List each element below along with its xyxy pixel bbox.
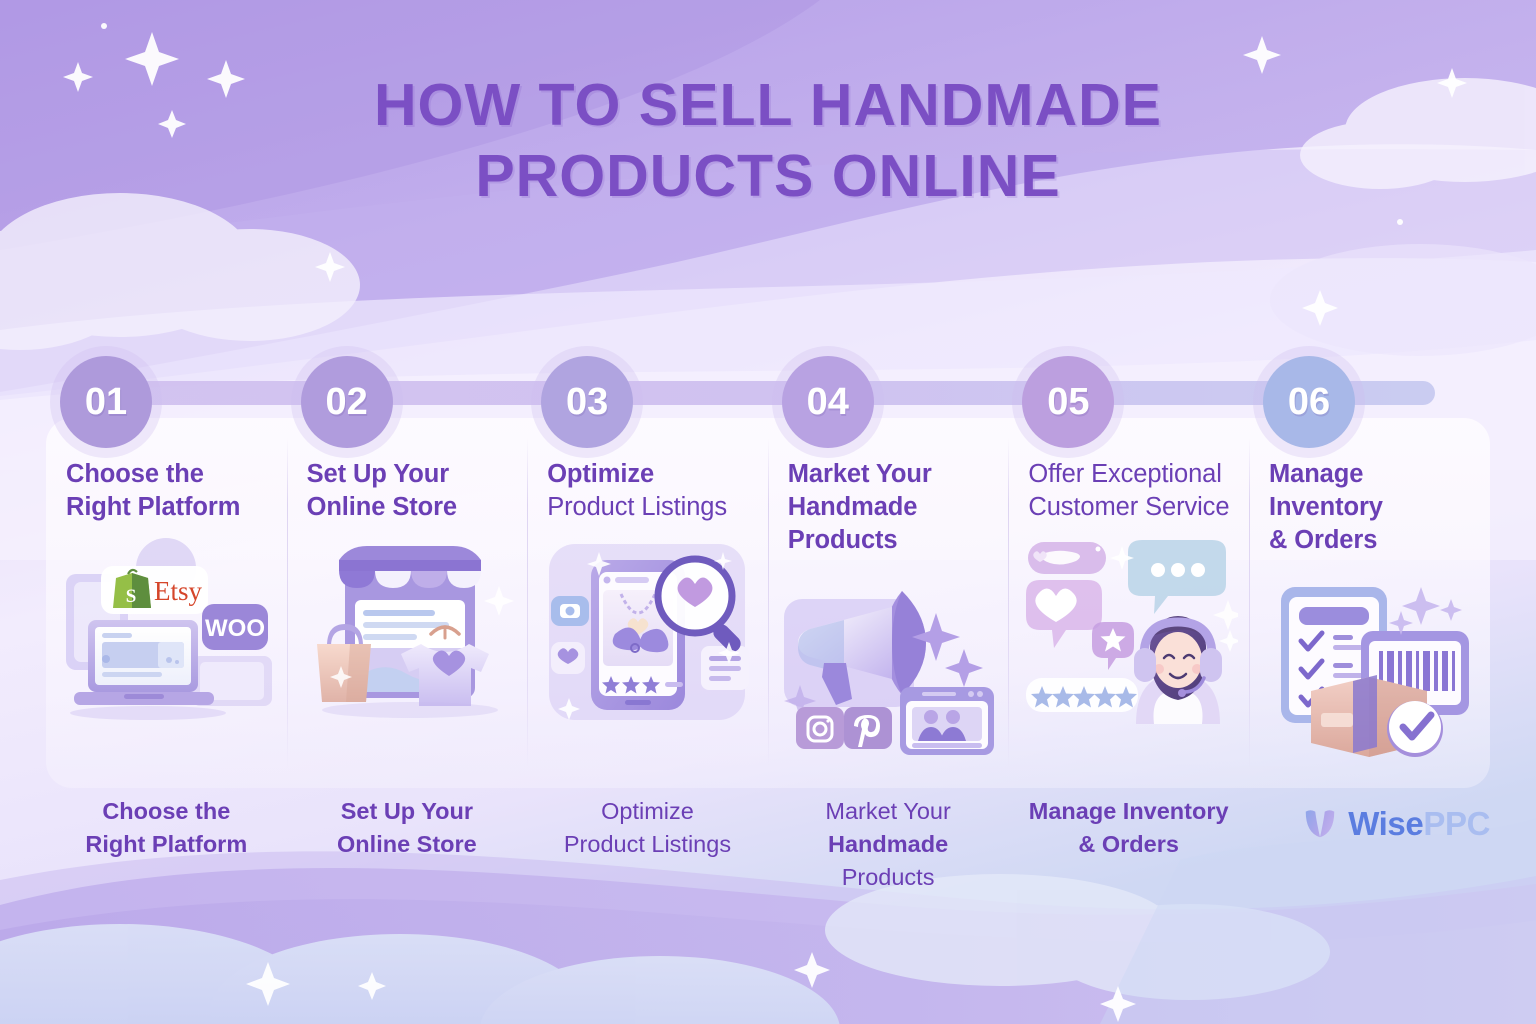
caption-row: Choose the Right Platform Set Up Your On… xyxy=(46,795,1490,935)
heart-icon xyxy=(551,642,585,674)
step-title-04-line1: Market Your xyxy=(788,460,932,488)
caption-05-line2: & Orders xyxy=(1078,831,1179,857)
step-number-06: 06 xyxy=(1288,381,1330,424)
support-agent-illustration xyxy=(1024,538,1238,724)
step-card-02[interactable]: 02 Set Up Your Online Store xyxy=(287,418,528,788)
title-line-1: HOW TO SELL HANDMADE xyxy=(0,70,1536,141)
caption-03-line2: Product Listings xyxy=(564,831,731,857)
step-number-03: 03 xyxy=(566,381,608,424)
storefront-illustration xyxy=(303,538,517,724)
steps-list: 01 Choose the Right Platform xyxy=(46,418,1490,788)
tulip-petal-mark-icon xyxy=(1301,805,1339,843)
step-title-04-line2: Handmade xyxy=(788,493,918,521)
etsy-wordmark: Etsy xyxy=(154,576,203,606)
caption-02: Set Up Your Online Store xyxy=(287,795,528,935)
inventory-orders-illustration xyxy=(1265,571,1479,757)
infographic-canvas: HOW TO SELL HANDMADE PRODUCTS ONLINE 01 … xyxy=(0,0,1536,1024)
step-badge-03: 03 xyxy=(541,356,633,448)
step-title-06-line3: & Orders xyxy=(1269,526,1377,554)
step-badge-04: 04 xyxy=(782,356,874,448)
step-card-06[interactable]: 06 Manage Inventory & Orders xyxy=(1249,418,1490,788)
step-title-03: Optimize Product Listings xyxy=(547,458,727,524)
wiseppc-logo[interactable]: WisePPC xyxy=(1301,805,1490,843)
step-badge-02: 02 xyxy=(301,356,393,448)
step-card-03[interactable]: 03 Optimize Product Listings xyxy=(527,418,768,788)
step-title-04: Market Your Handmade Products xyxy=(788,458,932,557)
step-title-04-line3: Products xyxy=(788,526,898,554)
laptop-marketplaces-illustration: S Etsy WOO xyxy=(62,538,276,724)
step-title-05-line2: Customer Service xyxy=(1028,493,1229,521)
woo-badge: WOO xyxy=(202,604,268,650)
caption-04-line3: Products xyxy=(842,864,935,890)
step-number-01: 01 xyxy=(85,381,127,424)
page-title: HOW TO SELL HANDMADE PRODUCTS ONLINE xyxy=(0,70,1536,212)
svg-text:WOO: WOO xyxy=(205,615,265,642)
step-card-04[interactable]: 04 Market Your Handmade Products xyxy=(768,418,1009,788)
caption-03: Optimize Product Listings xyxy=(527,795,768,935)
logo-name-secondary: PPC xyxy=(1423,805,1490,842)
step-title-01: Choose the Right Platform xyxy=(66,458,240,524)
caption-04: Market Your Handmade Products xyxy=(768,795,1009,935)
caption-02-line1: Set Up Your xyxy=(341,798,473,824)
step-title-02: Set Up Your Online Store xyxy=(307,458,457,524)
caption-04-line1: Market Your xyxy=(825,798,950,824)
heart-speech-bubble xyxy=(1026,580,1102,648)
step-title-06-line2: Inventory xyxy=(1269,493,1383,521)
step-title-03-line1: Optimize xyxy=(547,460,654,488)
phone-listing-magnifier-illustration xyxy=(543,538,757,724)
step-badge-01: 01 xyxy=(60,356,152,448)
megaphone-social-illustration xyxy=(784,571,998,757)
headset-agent-icon xyxy=(1134,616,1222,724)
caption-05-line1: Manage Inventory xyxy=(1029,798,1229,824)
step-title-02-line1: Set Up Your xyxy=(307,460,449,488)
step-title-02-line2: Online Store xyxy=(307,493,457,521)
browser-window-people xyxy=(900,687,994,755)
caption-01-line2: Right Platform xyxy=(85,831,247,857)
step-title-05: Offer Exceptional Customer Service xyxy=(1028,458,1229,524)
step-title-06: Manage Inventory & Orders xyxy=(1269,458,1383,557)
check-badge-icon xyxy=(1387,701,1443,757)
step-card-01[interactable]: 01 Choose the Right Platform xyxy=(46,418,287,788)
caption-01-line1: Choose the xyxy=(102,798,230,824)
svg-text:S: S xyxy=(126,586,137,607)
step-number-04: 04 xyxy=(807,381,849,424)
step-badge-06: 06 xyxy=(1263,356,1355,448)
step-title-03-line2: Product Listings xyxy=(547,493,727,521)
step-number-05: 05 xyxy=(1047,381,1089,424)
step-title-05-line1: Offer Exceptional xyxy=(1028,460,1221,488)
caption-01: Choose the Right Platform xyxy=(46,795,287,935)
caption-05: Manage Inventory & Orders xyxy=(1008,795,1249,935)
five-star-rating xyxy=(1026,678,1138,712)
caption-04-line2: Handmade xyxy=(828,831,948,857)
step-number-02: 02 xyxy=(325,381,367,424)
step-title-01-line1: Choose the xyxy=(66,460,204,488)
laptop-icon xyxy=(74,620,214,705)
social-icons-group xyxy=(796,707,892,749)
camera-icon xyxy=(551,596,589,626)
logo-wordmark: WisePPC xyxy=(1348,805,1490,843)
logo-name-primary: Wise xyxy=(1348,805,1423,842)
caption-03-line1: Optimize xyxy=(601,798,694,824)
step-title-01-line2: Right Platform xyxy=(66,493,240,521)
caption-02-line2: Online Store xyxy=(337,831,477,857)
star-bubble xyxy=(1092,622,1134,670)
step-card-05[interactable]: 05 Offer Exceptional Customer Service xyxy=(1008,418,1249,788)
dots-speech-bubble xyxy=(1128,540,1226,614)
pill-bubble xyxy=(1028,542,1106,574)
step-badge-05: 05 xyxy=(1022,356,1114,448)
title-line-2: PRODUCTS ONLINE xyxy=(0,141,1536,212)
step-title-06-line1: Manage xyxy=(1269,460,1363,488)
